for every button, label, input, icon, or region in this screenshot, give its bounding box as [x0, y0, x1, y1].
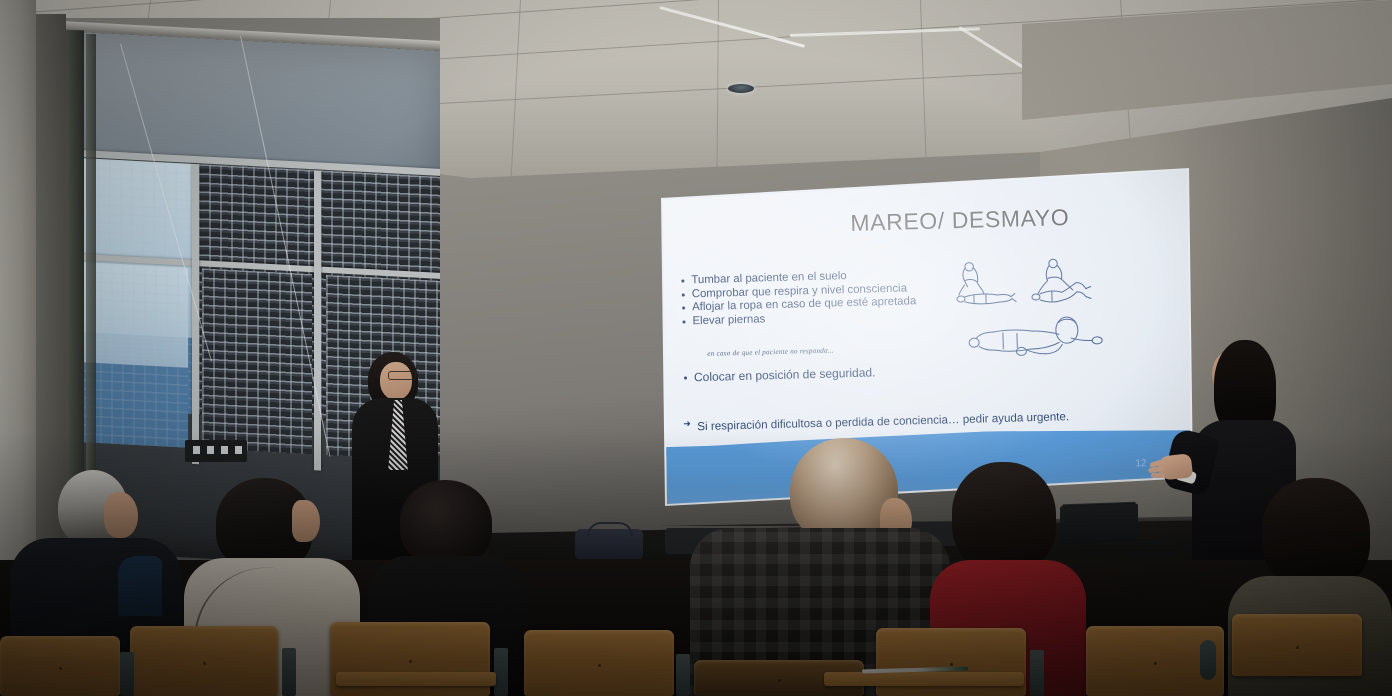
- seat-frame: [120, 652, 134, 696]
- audience-head: [400, 480, 492, 566]
- bag-on-desk: [575, 529, 643, 559]
- glasses-icon: [388, 371, 416, 380]
- seat-frame: [494, 648, 508, 696]
- presenter-right-hand: [1157, 453, 1193, 480]
- slide-title: MAREO/ DESMAYO: [800, 203, 1121, 239]
- slide-number: 12: [1135, 458, 1146, 469]
- audience-head: [1262, 478, 1370, 590]
- slide-surface: MAREO/ DESMAYO Tumbar al paciente en el …: [655, 168, 1195, 506]
- seat-frame: [676, 654, 690, 696]
- tablet-arm-desk[interactable]: [824, 672, 1024, 686]
- recessed-downlight: [728, 84, 754, 93]
- seat[interactable]: [1232, 614, 1362, 676]
- slide-bullet-secondary: Colocar en posición de seguridad.: [682, 365, 876, 384]
- recovery-position-figures: [953, 255, 1106, 369]
- figure-kneeling-helper: [956, 261, 1016, 304]
- tablet-arm-desk[interactable]: [336, 672, 496, 686]
- figure-recovery-position: [969, 316, 1103, 357]
- projection-screen: MAREO/ DESMAYO Tumbar al paciente en el …: [655, 168, 1195, 506]
- presenter-left-face: [380, 362, 412, 400]
- slide: MAREO/ DESMAYO Tumbar al paciente en el …: [651, 161, 1200, 513]
- classroom-presentation-scene: MAREO/ DESMAYO Tumbar al paciente en el …: [0, 0, 1392, 696]
- laptop: [1060, 504, 1138, 545]
- seat[interactable]: [130, 626, 278, 696]
- seat[interactable]: [524, 630, 674, 696]
- slide-note: en caso de que el paciente no responda..…: [707, 346, 834, 357]
- audience-face: [292, 500, 320, 542]
- slide-bullet-list: Tumbar al paciente en el suelo Comprobar…: [679, 267, 980, 329]
- figure-bending-knee: [1031, 258, 1091, 302]
- audience-face: [104, 492, 138, 538]
- seat-frame: [282, 648, 296, 696]
- seat-frame: [1200, 640, 1216, 680]
- seat-frame: [1030, 650, 1044, 696]
- av-wall-panel: [185, 440, 247, 462]
- audience-shirt: [118, 556, 162, 616]
- audience-head: [952, 462, 1056, 572]
- slide-bullet-final: Si respiración dificultosa o perdida de …: [683, 410, 1069, 433]
- seat[interactable]: [0, 636, 120, 696]
